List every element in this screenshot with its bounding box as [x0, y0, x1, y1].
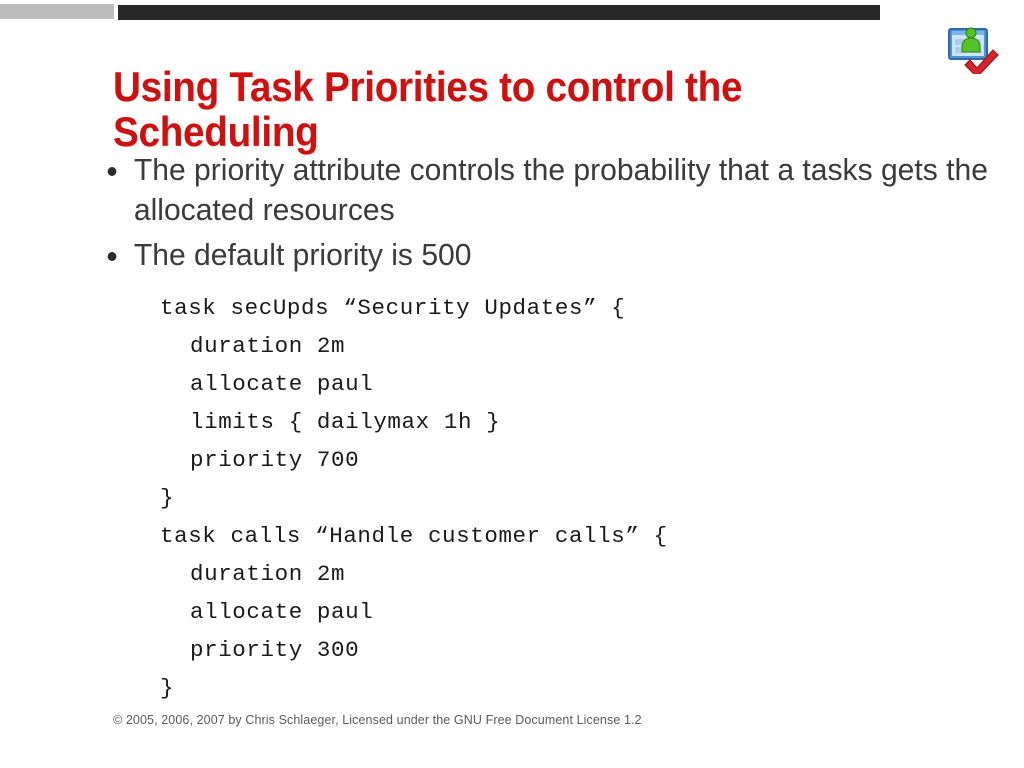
gray-accent-bar	[0, 4, 114, 19]
bullet-text: The default priority is 500	[134, 237, 472, 272]
bullet-text: The priority attribute controls the prob…	[134, 152, 988, 227]
bullet-dot-icon	[108, 167, 117, 176]
code-block: task secUpds “Security Updates” { durati…	[0, 289, 1024, 707]
code-line: }	[0, 479, 1024, 517]
code-line: task calls “Handle customer calls” {	[0, 517, 1024, 555]
code-line: limits { dailymax 1h }	[0, 403, 1024, 441]
code-line: duration 2m	[0, 555, 1024, 593]
slide-body: The priority attribute controls the prob…	[0, 150, 1024, 707]
slide-title: Using Task Priorities to control the Sch…	[113, 64, 840, 155]
header-decoration	[0, 0, 1024, 26]
code-line: allocate paul	[0, 365, 1024, 403]
code-line: priority 700	[0, 441, 1024, 479]
taskjuggler-logo-icon	[946, 26, 1000, 74]
code-line: task secUpds “Security Updates” {	[0, 289, 1024, 327]
footer-copyright: © 2005, 2006, 2007 by Chris Schlaeger, L…	[113, 713, 642, 727]
dark-accent-bar	[118, 5, 880, 20]
code-line: priority 300	[0, 631, 1024, 669]
code-line: }	[0, 669, 1024, 707]
bullet-list: The priority attribute controls the prob…	[0, 150, 1024, 275]
list-item: The priority attribute controls the prob…	[0, 150, 993, 229]
code-line: allocate paul	[0, 593, 1024, 631]
list-item: The default priority is 500	[0, 235, 993, 275]
bullet-dot-icon	[108, 252, 117, 261]
code-line: duration 2m	[0, 327, 1024, 365]
